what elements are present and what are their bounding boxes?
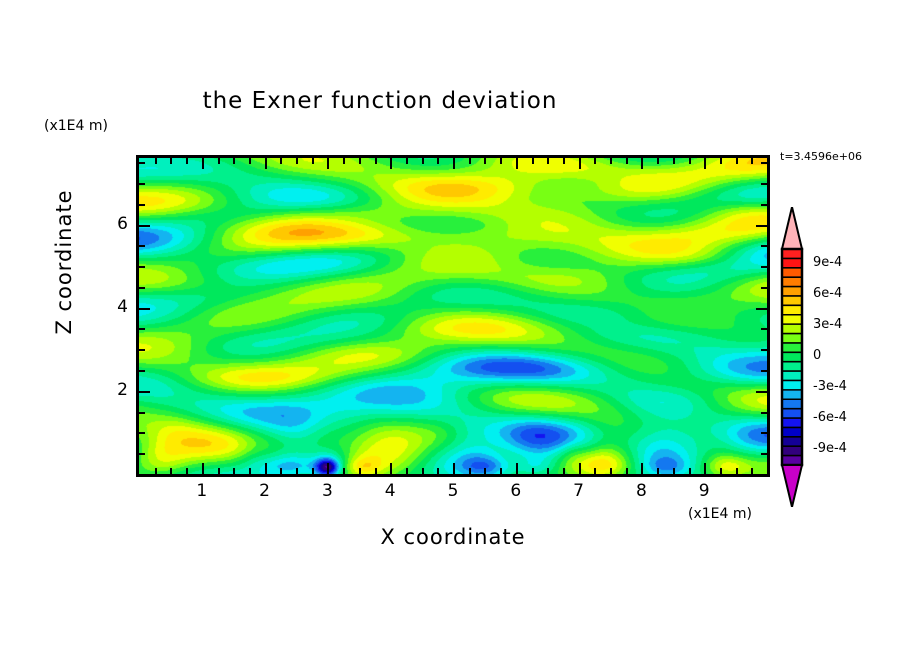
x-axis-tick — [547, 468, 549, 474]
x-axis-tick — [218, 468, 220, 474]
colorbar-band — [782, 287, 802, 297]
z-axis-tick — [139, 432, 145, 434]
z-axis-tick — [761, 453, 767, 455]
x-axis-tick — [422, 468, 424, 474]
x-axis-tick — [422, 158, 424, 164]
x-axis-tick — [359, 468, 361, 474]
x-axis-tick — [437, 158, 439, 164]
x-axis-tick — [437, 468, 439, 474]
z-axis-tick — [761, 204, 767, 206]
colorbar-band — [782, 258, 802, 268]
x-axis-tick — [532, 468, 534, 474]
colorbar-tick-label: 0 — [813, 348, 821, 363]
colorbar-tick-label: 9e-4 — [813, 255, 842, 270]
z-axis-tick — [139, 412, 145, 414]
z-axis-tick — [761, 370, 767, 372]
colorbar-band — [782, 324, 802, 334]
x-axis-tick — [375, 468, 377, 474]
z-axis-tick — [761, 349, 767, 351]
x-axis-tick — [312, 158, 314, 164]
colorbar-band — [782, 334, 802, 344]
x-axis-tick — [170, 468, 172, 474]
z-axis-tick — [761, 328, 767, 330]
x-axis-tick — [280, 158, 282, 164]
z-axis-tick — [761, 432, 767, 434]
x-axis-tick — [296, 158, 298, 164]
x-axis-tick — [720, 468, 722, 474]
x-axis-tick — [626, 468, 628, 474]
x-axis-tick — [202, 463, 204, 474]
colorbar-over-arrow — [782, 207, 802, 249]
x-axis-tick — [233, 468, 235, 474]
colorbar — [779, 207, 805, 507]
x-axis-tick — [626, 158, 628, 164]
x-axis-tick — [594, 158, 596, 164]
x-axis-tick — [689, 158, 691, 164]
x-axis-tick — [265, 463, 267, 474]
x-axis-tick — [406, 158, 408, 164]
x-tick-label: 9 — [689, 481, 719, 501]
z-axis-tick — [139, 204, 145, 206]
colorbar-band — [782, 380, 802, 390]
z-axis-tick — [756, 391, 767, 393]
z-axis-tick — [756, 225, 767, 227]
z-axis-tick — [761, 266, 767, 268]
colorbar-band — [782, 268, 802, 278]
x-axis-tick — [720, 158, 722, 164]
contour-plot-area — [136, 155, 770, 477]
z-axis-tick — [761, 245, 767, 247]
x-axis-tick — [736, 158, 738, 164]
colorbar-band — [782, 352, 802, 362]
colorbar-band — [782, 315, 802, 325]
z-axis-tick — [756, 308, 767, 310]
colorbar-tick-label: 6e-4 — [813, 286, 842, 301]
x-axis-tick — [704, 158, 706, 169]
x-axis-tick — [469, 158, 471, 164]
z-axis-tick — [761, 412, 767, 414]
x-axis-tick — [343, 158, 345, 164]
colorbar-band — [782, 371, 802, 381]
colorbar-band — [782, 277, 802, 287]
chart-page: the Exner function deviation (x1E4 m) (x… — [0, 0, 904, 654]
x-axis-tick — [233, 158, 235, 164]
x-axis-tick — [218, 158, 220, 164]
z-axis-tick — [139, 225, 150, 227]
z-axis-tick — [761, 287, 767, 289]
x-axis-tick — [673, 158, 675, 164]
timestamp-label: t=3.4596e+06 — [780, 150, 862, 163]
z-axis-tick — [139, 266, 145, 268]
z-axis-tick — [139, 308, 150, 310]
y-axis-unit-label: (x1E4 m) — [44, 118, 108, 134]
x-axis-tick — [265, 158, 267, 169]
x-axis-tick — [249, 468, 251, 474]
colorbar-band — [782, 437, 802, 447]
colorbar-tick-label: -9e-4 — [813, 441, 847, 456]
colorbar-band — [782, 296, 802, 306]
x-axis-tick — [155, 468, 157, 474]
x-axis-tick — [202, 158, 204, 169]
x-axis-tick — [296, 468, 298, 474]
x-axis-tick — [704, 463, 706, 474]
z-tick-label: 6 — [98, 214, 128, 234]
x-axis-tick — [359, 158, 361, 164]
colorbar-under-arrow — [782, 465, 802, 507]
colorbar-band — [782, 409, 802, 419]
x-axis-title: X coordinate — [136, 525, 770, 549]
colorbar-band — [782, 305, 802, 315]
x-axis-tick — [312, 468, 314, 474]
colorbar-tick-label: -6e-4 — [813, 410, 847, 425]
page-title: the Exner function deviation — [0, 88, 760, 114]
x-axis-tick — [484, 158, 486, 164]
x-axis-tick — [327, 158, 329, 169]
x-axis-tick — [516, 158, 518, 169]
x-axis-tick — [249, 158, 251, 164]
x-axis-tick — [547, 158, 549, 164]
colorbar-band — [782, 362, 802, 372]
z-axis-tick — [139, 453, 145, 455]
contour-field-canvas — [139, 158, 767, 474]
colorbar-band — [782, 399, 802, 409]
x-axis-tick — [610, 158, 612, 164]
x-axis-tick — [186, 468, 188, 474]
colorbar-band — [782, 418, 802, 428]
z-axis-tick — [139, 391, 150, 393]
colorbar-svg — [779, 207, 805, 507]
z-axis-tick — [139, 162, 145, 164]
colorbar-tick-label: -3e-4 — [813, 379, 847, 394]
x-tick-label: 5 — [438, 481, 468, 501]
x-tick-label: 4 — [375, 481, 405, 501]
z-axis-tick — [139, 287, 145, 289]
x-axis-tick — [390, 463, 392, 474]
x-tick-label: 6 — [501, 481, 531, 501]
x-axis-tick — [280, 468, 282, 474]
z-axis-tick — [761, 183, 767, 185]
x-axis-tick — [343, 468, 345, 474]
colorbar-band — [782, 343, 802, 353]
x-axis-tick — [532, 158, 534, 164]
x-axis-unit-label: (x1E4 m) — [688, 506, 752, 522]
x-axis-tick — [641, 158, 643, 169]
x-axis-tick — [579, 158, 581, 169]
colorbar-band — [782, 249, 802, 259]
x-axis-tick — [453, 463, 455, 474]
colorbar-band — [782, 446, 802, 456]
x-axis-tick — [657, 158, 659, 164]
x-axis-tick — [500, 468, 502, 474]
x-axis-tick — [673, 468, 675, 474]
z-axis-tick — [139, 183, 145, 185]
z-tick-label: 4 — [98, 297, 128, 317]
x-axis-tick — [610, 468, 612, 474]
x-tick-label: 8 — [626, 481, 656, 501]
x-tick-label: 1 — [187, 481, 217, 501]
colorbar-band — [782, 427, 802, 437]
x-axis-tick — [594, 468, 596, 474]
x-axis-tick — [751, 158, 753, 164]
z-axis-tick — [761, 162, 767, 164]
z-axis-tick — [139, 349, 145, 351]
y-axis-title: Z coordinate — [52, 172, 76, 352]
colorbar-tick-label: 3e-4 — [813, 317, 842, 332]
x-axis-tick — [375, 158, 377, 164]
x-tick-label: 2 — [250, 481, 280, 501]
x-axis-tick — [563, 158, 565, 164]
x-axis-tick — [170, 158, 172, 164]
x-axis-tick — [736, 468, 738, 474]
x-tick-label: 3 — [312, 481, 342, 501]
x-axis-tick — [516, 463, 518, 474]
x-axis-tick — [453, 158, 455, 169]
x-axis-tick — [563, 468, 565, 474]
z-tick-label: 2 — [98, 380, 128, 400]
x-axis-tick — [751, 468, 753, 474]
x-axis-tick — [469, 468, 471, 474]
x-tick-label: 7 — [564, 481, 594, 501]
x-axis-tick — [641, 463, 643, 474]
colorbar-band — [782, 390, 802, 400]
x-axis-tick — [390, 158, 392, 169]
x-axis-tick — [327, 463, 329, 474]
z-axis-tick — [139, 370, 145, 372]
x-axis-tick — [657, 468, 659, 474]
x-axis-tick — [500, 158, 502, 164]
x-axis-tick — [689, 468, 691, 474]
x-axis-tick — [155, 158, 157, 164]
x-axis-tick — [484, 468, 486, 474]
x-axis-tick — [186, 158, 188, 164]
x-axis-tick — [406, 468, 408, 474]
z-axis-tick — [139, 245, 145, 247]
x-axis-tick — [579, 463, 581, 474]
z-axis-tick — [139, 328, 145, 330]
